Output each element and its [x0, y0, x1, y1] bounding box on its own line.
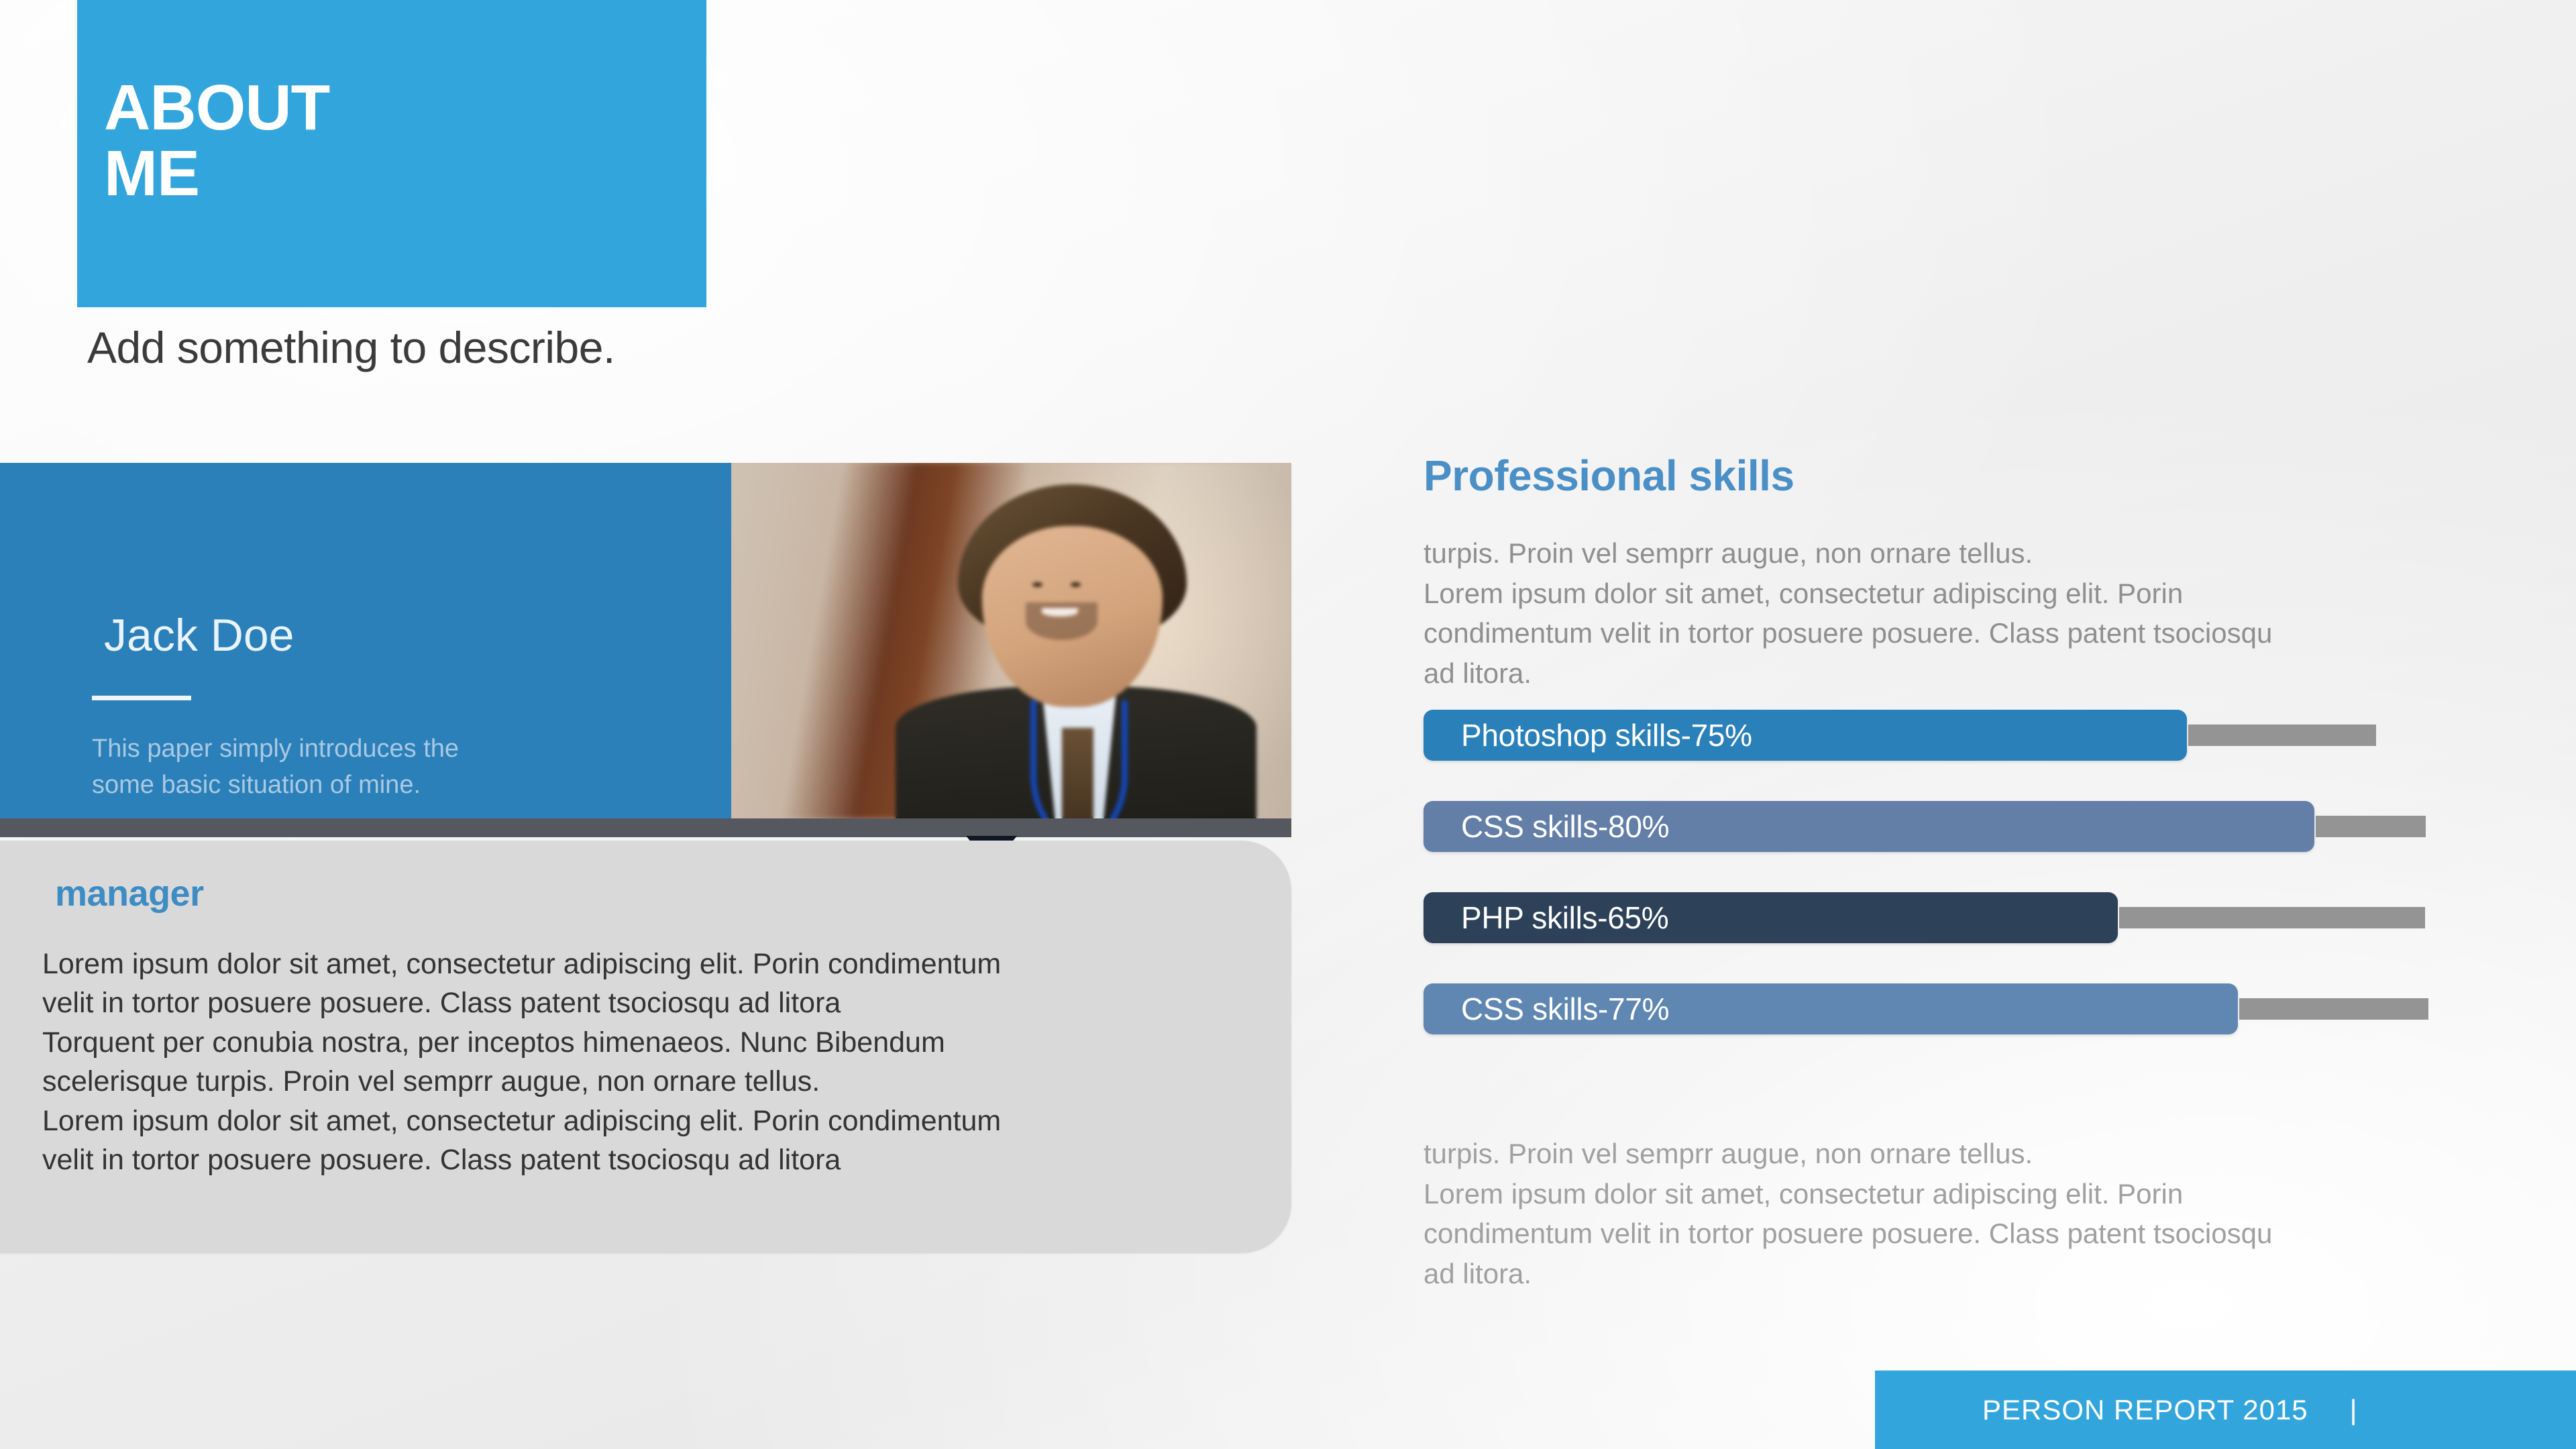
skill-track [2239, 998, 2428, 1020]
profile-name: Jack Doe [104, 609, 294, 661]
skill-label: PHP skills-65% [1461, 900, 1668, 936]
skill-row: CSS skills-80% [1424, 801, 2426, 852]
skills-intro-text: turpis. Proin vel semprr augue, non orna… [1424, 533, 2497, 694]
role-panel: manager Lorem ipsum dolor sit amet, cons… [0, 841, 1291, 1253]
skill-label: CSS skills-80% [1461, 808, 1669, 845]
profile-divider [92, 696, 191, 700]
skill-row: PHP skills-65% [1424, 892, 2425, 943]
profile-card: Jack Doe This paper simply introduces th… [0, 463, 1291, 818]
slide-canvas: ABOUT ME Add something to describe. Jack… [0, 0, 2576, 1449]
skill-track [2188, 724, 2376, 746]
skill-bar: PHP skills-65% [1424, 892, 2118, 943]
skill-bar: CSS skills-77% [1424, 983, 2238, 1034]
photo-blur-overlay [731, 463, 1291, 818]
profile-description: This paper simply introduces the some ba… [92, 731, 575, 804]
skills-heading: Professional skills [1424, 451, 1794, 500]
skill-bar: Photoshop skills-75% [1424, 710, 2187, 761]
footer-separator: | [2350, 1394, 2357, 1426]
card-bottom-strip [0, 818, 1291, 837]
profile-photo [731, 463, 1291, 818]
skill-label: CSS skills-77% [1461, 991, 1669, 1027]
role-body-text: Lorem ipsum dolor sit amet, consectetur … [42, 945, 1243, 1180]
footer-label: PERSON REPORT 2015 [1982, 1394, 2308, 1426]
skill-track [2119, 907, 2425, 928]
skill-track [2316, 816, 2426, 837]
role-title: manager [55, 873, 204, 914]
skills-outro-text: turpis. Proin vel semprr augue, non orna… [1424, 1134, 2497, 1294]
page-subtitle: Add something to describe. [87, 322, 615, 373]
footer-banner: PERSON REPORT 2015 | [1875, 1371, 2576, 1449]
about-me-block: ABOUT ME [77, 0, 706, 307]
skill-bar: CSS skills-80% [1424, 801, 2314, 852]
skill-row: CSS skills-77% [1424, 983, 2428, 1034]
page-title: ABOUT ME [104, 75, 329, 207]
profile-info-panel: Jack Doe This paper simply introduces th… [0, 463, 731, 818]
skill-label: Photoshop skills-75% [1461, 717, 1752, 753]
skill-row: Photoshop skills-75% [1424, 710, 2376, 761]
